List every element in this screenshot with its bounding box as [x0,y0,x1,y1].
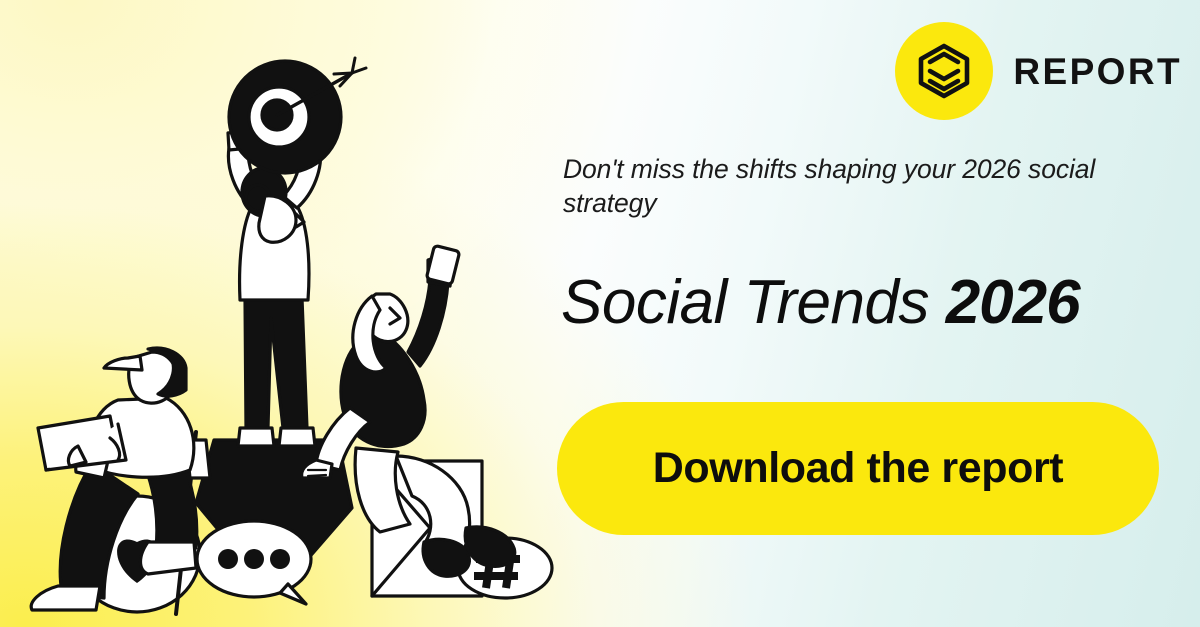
speech-bubble-icon [197,521,311,604]
brand-logo-badge [895,22,993,120]
page-title: Social Trends 2026 [561,272,1200,334]
illustration-artwork [0,8,580,627]
brand-lockup: REPORT [895,22,1182,120]
brand-name: REPORT [1013,53,1182,90]
target-dartboard-icon [229,58,366,173]
download-report-button[interactable]: Download the report [557,402,1159,535]
page-title-main: Social Trends [561,268,946,337]
promo-banner: REPORT Don't miss the shifts shaping you… [0,0,1200,627]
eyebrow-text: Don't miss the shifts shaping your 2026 … [563,152,1133,221]
page-title-year: 2026 [946,268,1080,337]
hero-illustration [0,8,580,627]
content-column: REPORT Don't miss the shifts shaping you… [556,0,1200,627]
stacked-layers-hexagon-icon [918,43,970,99]
